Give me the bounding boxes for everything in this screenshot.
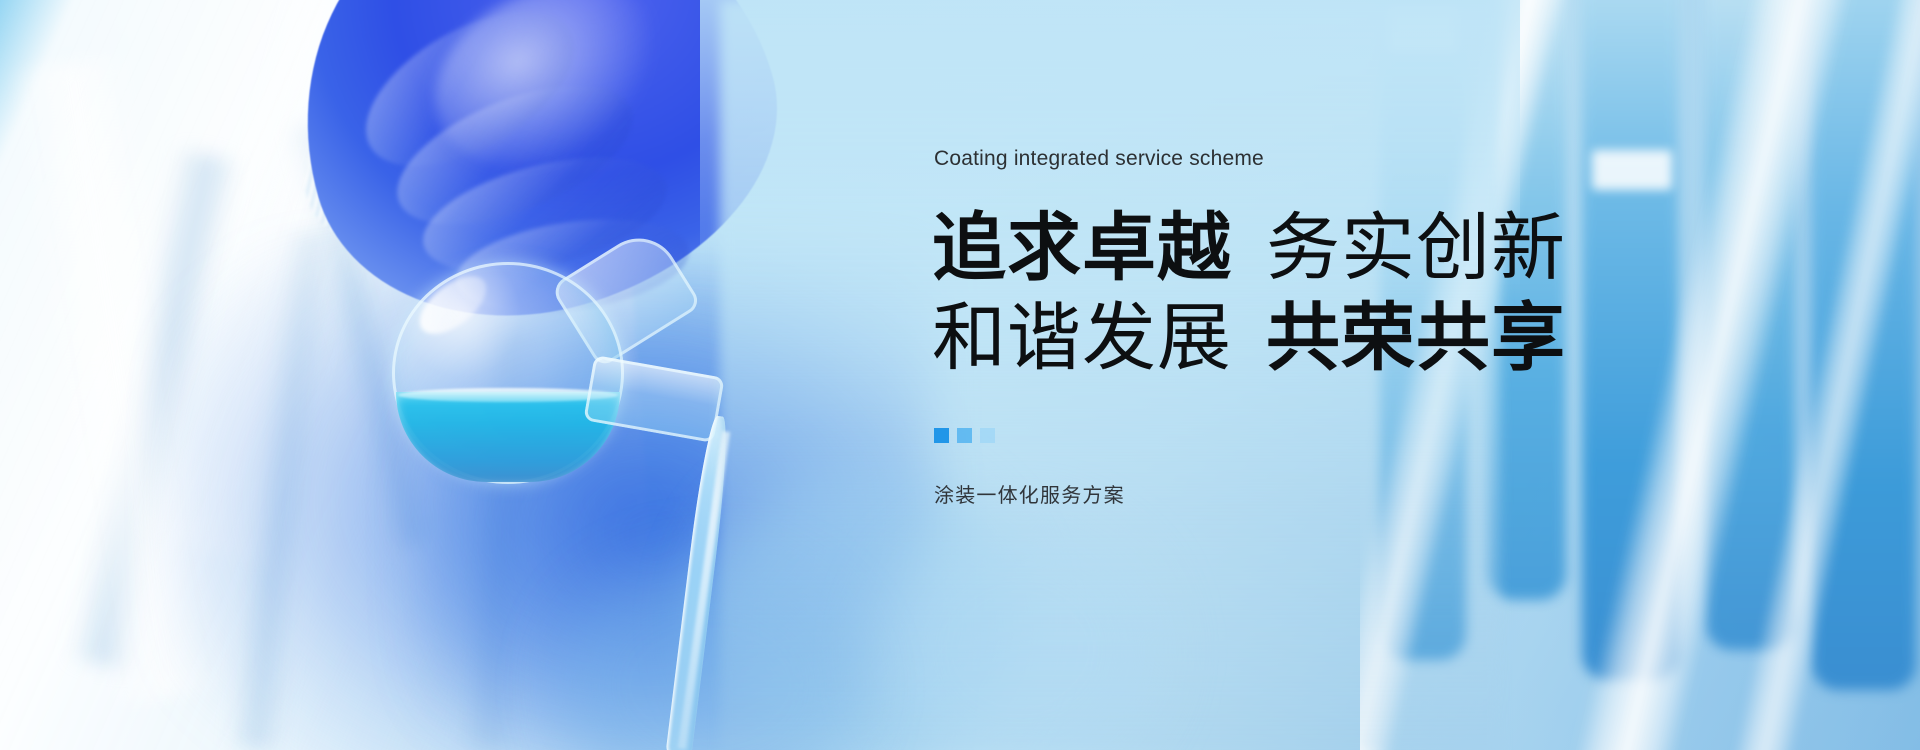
flask-liquid-surface bbox=[398, 388, 618, 402]
hero-eyebrow: Coating integrated service scheme bbox=[934, 148, 1692, 169]
headline-line-2: 和谐发展共荣共享 bbox=[932, 293, 1692, 383]
headline-line-1-thin: 务实创新 bbox=[1266, 206, 1566, 289]
hero-headline: 追求卓越务实创新 和谐发展共荣共享 bbox=[932, 203, 1692, 384]
hero-caption: 涂装一体化服务方案 bbox=[934, 479, 1692, 508]
slide-dot-1[interactable] bbox=[934, 428, 949, 443]
slide-dot-2[interactable] bbox=[957, 428, 972, 443]
hero-content: Coating integrated service scheme 追求卓越务实… bbox=[932, 148, 1692, 508]
headline-line-1: 追求卓越务实创新 bbox=[932, 203, 1692, 293]
headline-line-2-thin: 和谐发展 bbox=[932, 296, 1232, 379]
slide-indicator-dots[interactable] bbox=[934, 428, 1692, 443]
hero-banner: Coating integrated service scheme 追求卓越务实… bbox=[0, 0, 1920, 750]
headline-line-2-bold: 共荣共享 bbox=[1266, 296, 1566, 379]
headline-line-1-bold: 追求卓越 bbox=[932, 206, 1232, 289]
slide-dot-3[interactable] bbox=[980, 428, 995, 443]
